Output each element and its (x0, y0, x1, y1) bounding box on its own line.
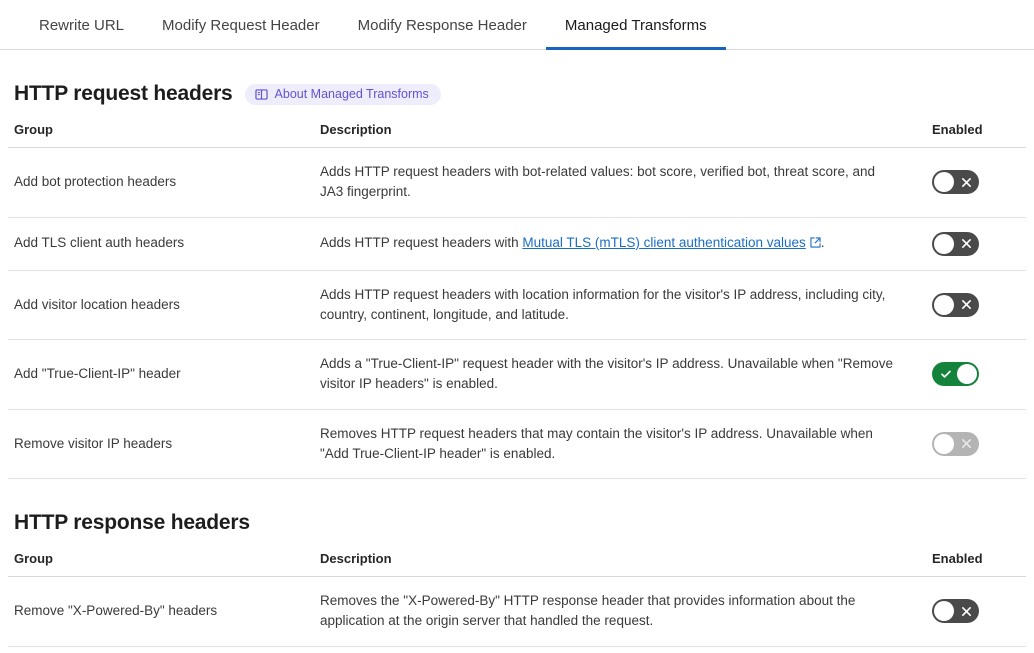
tab-modify-request-header[interactable]: Modify Request Header (143, 0, 339, 49)
tab-bar: Rewrite URL Modify Request Header Modify… (0, 0, 1034, 50)
tab-modify-response-header[interactable]: Modify Response Header (339, 0, 546, 49)
section-http-response-headers: HTTP response headers Group Description … (8, 511, 1026, 653)
table-row: Remove visitor IP headers Removes HTTP r… (8, 409, 1026, 479)
close-icon (961, 293, 972, 317)
toggle-knob (934, 172, 954, 192)
row-enabled-cell (926, 409, 1026, 479)
section-http-request-headers: HTTP request headers About Managed Trans… (8, 82, 1026, 479)
book-icon (255, 88, 268, 101)
toggle-add-tls-client-auth-headers[interactable] (932, 232, 979, 256)
toggle-knob (934, 295, 954, 315)
table-row: Add visitor location headers Adds HTTP r… (8, 270, 1026, 340)
column-header-group: Group (8, 122, 314, 148)
row-enabled-cell (926, 577, 1026, 647)
row-group-label: Remove visitor IP headers (8, 409, 314, 479)
table-row: Add bot protection headers Adds HTTP req… (8, 148, 1026, 218)
external-link-icon[interactable] (810, 234, 821, 254)
close-icon (961, 232, 972, 256)
toggle-add-bot-protection-headers[interactable] (932, 170, 979, 194)
about-managed-transforms-badge[interactable]: About Managed Transforms (245, 84, 441, 105)
row-enabled-cell (926, 148, 1026, 218)
table-header-row: Group Description Enabled (8, 551, 1026, 577)
row-group-label: Add TLS client auth headers (8, 217, 314, 270)
row-group-label: Add security headers (8, 646, 314, 653)
column-header-description: Description (314, 551, 926, 577)
table-row: Remove "X-Powered-By" headers Removes th… (8, 577, 1026, 647)
column-header-enabled: Enabled (926, 551, 1026, 577)
toggle-knob (934, 434, 954, 454)
description-prefix: Adds HTTP request headers with (320, 235, 522, 250)
toggle-add-visitor-location-headers[interactable] (932, 293, 979, 317)
table-header-row: Group Description Enabled (8, 122, 1026, 148)
tab-rewrite-url[interactable]: Rewrite URL (20, 0, 143, 49)
description-suffix: . (821, 235, 825, 250)
row-description: Removes the "X-Powered-By" HTTP response… (314, 577, 926, 647)
column-header-description: Description (314, 122, 926, 148)
response-headers-table: Group Description Enabled Remove "X-Powe… (8, 551, 1026, 653)
request-headers-table: Group Description Enabled Add bot protec… (8, 122, 1026, 479)
toggle-remove-x-powered-by-headers[interactable] (932, 599, 979, 623)
row-description: Adds HTTP request headers with Mutual TL… (314, 217, 926, 270)
about-badge-label: About Managed Transforms (275, 88, 429, 101)
row-description: Adds several security-related HTTP respo… (314, 646, 926, 653)
section-header: HTTP request headers About Managed Trans… (8, 82, 1026, 106)
column-header-group: Group (8, 551, 314, 577)
row-group-label: Add bot protection headers (8, 148, 314, 218)
close-icon (961, 432, 972, 456)
row-description: Removes HTTP request headers that may co… (314, 409, 926, 479)
column-header-enabled: Enabled (926, 122, 1026, 148)
table-row: Add "True-Client-IP" header Adds a "True… (8, 340, 1026, 410)
row-enabled-cell (926, 217, 1026, 270)
page-title: HTTP request headers (14, 82, 233, 106)
toggle-knob (957, 364, 977, 384)
row-enabled-cell (926, 270, 1026, 340)
section-title-response: HTTP response headers (14, 511, 250, 535)
toggle-add-true-client-ip-header[interactable] (932, 362, 979, 386)
toggle-remove-visitor-ip-headers (932, 432, 979, 456)
mtls-client-auth-link[interactable]: Mutual TLS (mTLS) client authentication … (522, 235, 805, 250)
toggle-knob (934, 601, 954, 621)
table-row: Add TLS client auth headers Adds HTTP re… (8, 217, 1026, 270)
row-enabled-cell (926, 646, 1026, 653)
table-row: Add security headers Adds several securi… (8, 646, 1026, 653)
row-group-label: Add "True-Client-IP" header (8, 340, 314, 410)
check-icon (940, 362, 952, 386)
row-enabled-cell (926, 340, 1026, 410)
tab-managed-transforms[interactable]: Managed Transforms (546, 0, 726, 49)
page-content: HTTP request headers About Managed Trans… (0, 82, 1034, 653)
toggle-knob (934, 234, 954, 254)
close-icon (961, 599, 972, 623)
row-group-label: Add visitor location headers (8, 270, 314, 340)
row-description: Adds HTTP request headers with location … (314, 270, 926, 340)
row-description: Adds HTTP request headers with bot-relat… (314, 148, 926, 218)
row-group-label: Remove "X-Powered-By" headers (8, 577, 314, 647)
row-description: Adds a "True-Client-IP" request header w… (314, 340, 926, 410)
section-header: HTTP response headers (8, 511, 1026, 535)
close-icon (961, 170, 972, 194)
